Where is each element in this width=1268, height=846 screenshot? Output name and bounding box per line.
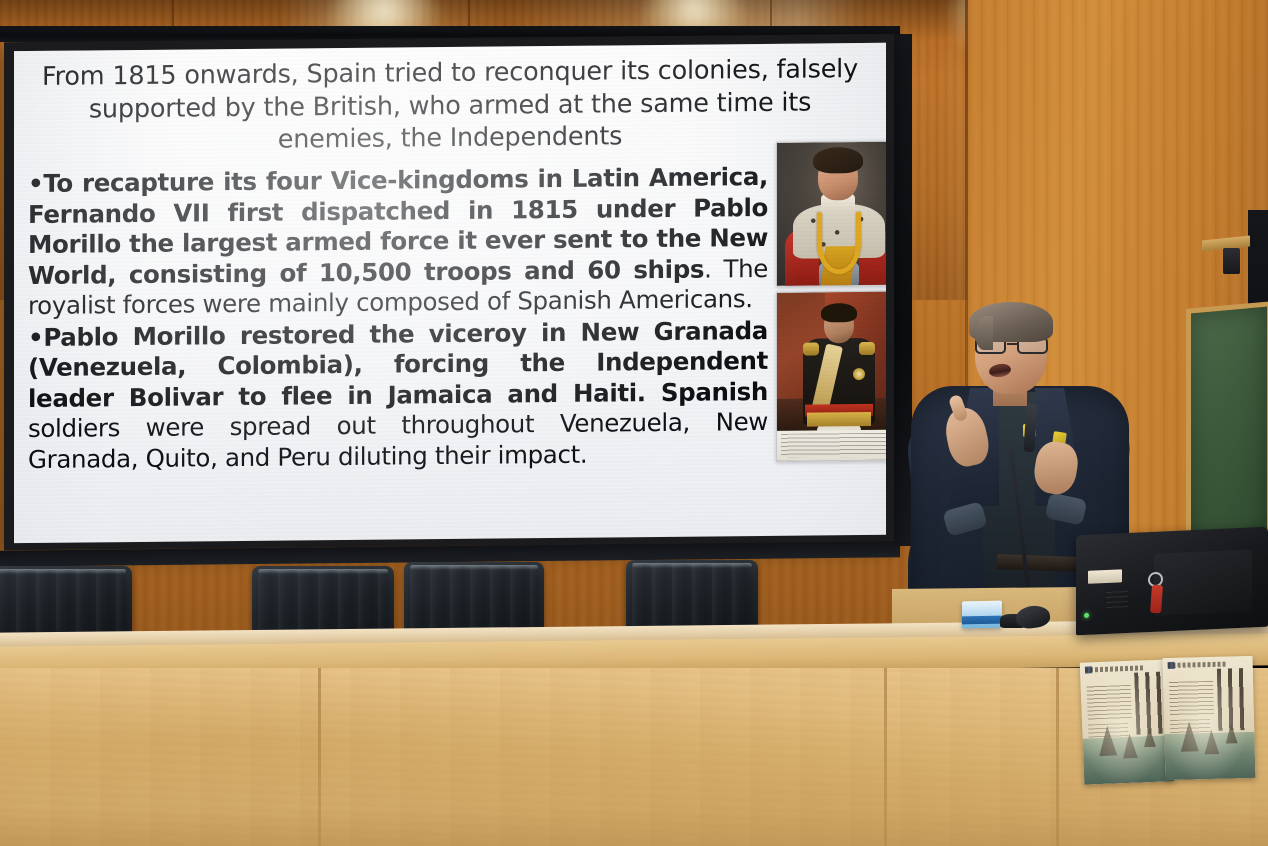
portrait-medal-icon <box>853 368 865 380</box>
slide-title: From 1815 onwards, Spain tried to reconq… <box>36 53 864 159</box>
speaker-hair <box>969 302 1053 342</box>
portrait-hair <box>821 303 857 322</box>
tissue-box-band <box>962 616 1002 625</box>
portrait-pablo-morillo <box>776 291 886 462</box>
portrait-fernando-vii <box>776 141 886 287</box>
slide-bullet: •To recapture its four Vice-kingdoms in … <box>28 162 768 322</box>
chair-highlight <box>632 563 752 568</box>
portrait-epaulette <box>803 342 819 355</box>
portrait-golden-fleece-chain <box>817 212 861 274</box>
flyer-haze <box>1080 659 1175 784</box>
projection-screen: From 1815 onwards, Spain tried to reconq… <box>4 34 894 551</box>
slide-bullet: •Pablo Morillo restored the viceroy in N… <box>28 315 768 475</box>
bullet-regular-text: soldiers were spread out throughout Vene… <box>28 407 768 474</box>
slide-body: •To recapture its four Vice-kingdoms in … <box>28 162 768 476</box>
chair-highlight <box>0 569 126 574</box>
monitor-back-panel <box>1154 549 1252 615</box>
portrait-caption <box>777 430 886 461</box>
presentation-slide: From 1815 onwards, Spain tried to reconq… <box>14 43 886 543</box>
bullet-bold-text: Pablo Morillo restored the viceroy in Ne… <box>28 315 768 412</box>
portrait-hair <box>813 147 863 173</box>
bullet-bold-text: To recapture its four Vice-kingdoms in L… <box>28 162 768 290</box>
desk-panel-seam <box>884 668 887 846</box>
monitor-asset-label <box>1088 569 1122 584</box>
chair-highlight <box>258 569 388 574</box>
chair-highlight <box>410 565 538 570</box>
bullet-marker: • <box>28 322 43 351</box>
lecture-hall-scene: From 1815 onwards, Spain tried to reconq… <box>0 0 1268 846</box>
portrait-epaulette <box>859 342 875 355</box>
monitor <box>1076 527 1268 636</box>
bullet-marker: • <box>28 169 43 198</box>
event-flyer <box>1163 656 1256 780</box>
portrait-caption-text <box>781 433 886 458</box>
desk-front-panel <box>0 668 1268 846</box>
chalkboard <box>1186 301 1268 559</box>
tissue-box <box>962 601 1002 629</box>
portrait-gold-trim <box>807 412 871 427</box>
desk-panel-seam <box>318 668 321 846</box>
chair <box>0 566 132 640</box>
flyer-haze <box>1163 656 1256 780</box>
wall-speaker-icon <box>1223 248 1240 274</box>
event-flyer <box>1080 659 1175 784</box>
desk-panel-seam <box>1056 668 1059 846</box>
key-fob <box>1150 585 1163 613</box>
power-led-icon <box>1084 613 1089 618</box>
monitor-vents <box>1106 591 1128 610</box>
